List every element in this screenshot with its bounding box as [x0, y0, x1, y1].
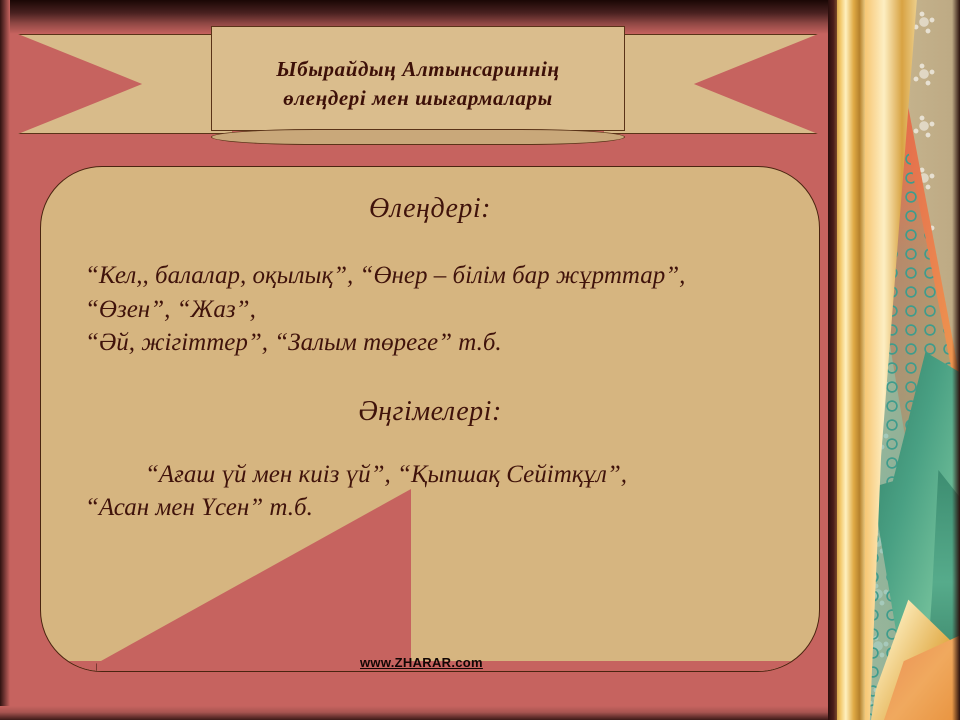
- decorative-side-border: [828, 0, 960, 720]
- bottom-vignette: [0, 706, 960, 720]
- banner-title-line-2: өлеңдері мен шығармалары: [283, 85, 553, 111]
- banner-ribbon-tail-left: [18, 34, 232, 134]
- content-panel-inner: Өлеңдері: “Кел,, балалар, оқылық”, “Өнер…: [41, 167, 819, 671]
- banner-title-block: Ыбырайдың Алтынсариннің өлеңдері мен шығ…: [211, 36, 625, 131]
- decorative-right-shade: [952, 0, 960, 720]
- stories-line-1: “Ағаш үй мен киіз үй”, “Қыпшақ Сейітқұл”…: [71, 458, 789, 492]
- banner-ribbon-tail-right: [604, 34, 818, 134]
- left-vignette: [0, 0, 10, 720]
- stories-heading: Әңгімелері:: [71, 396, 789, 428]
- banner-title-line-1: Ыбырайдың Алтынсариннің: [276, 56, 559, 82]
- poems-line-3: “Әй, жігіттер”, “Залым төреге” т.б.: [71, 326, 789, 360]
- slide-canvas: Ыбырайдың Алтынсариннің өлеңдері мен шығ…: [0, 0, 960, 720]
- stories-line-2: “Асан мен Үсен” т.б.: [71, 491, 789, 525]
- watermark: www.ZHARAR.com: [360, 655, 483, 670]
- banner-scroll-curl: [211, 129, 625, 145]
- poems-heading: Өлеңдері:: [71, 193, 789, 225]
- panel-text-content: Өлеңдері: “Кел,, балалар, оқылық”, “Өнер…: [41, 167, 819, 525]
- poems-line-2: “Өзен”, “Жаз”,: [71, 293, 789, 327]
- content-panel: Өлеңдері: “Кел,, балалар, оқылық”, “Өнер…: [40, 166, 820, 672]
- gold-vertical-band: [835, 0, 865, 720]
- poems-line-1: “Кел,, балалар, оқылық”, “Өнер – білім б…: [71, 259, 789, 293]
- decorative-dark-edge: [828, 0, 837, 720]
- title-banner: Ыбырайдың Алтынсариннің өлеңдері мен шығ…: [18, 34, 818, 140]
